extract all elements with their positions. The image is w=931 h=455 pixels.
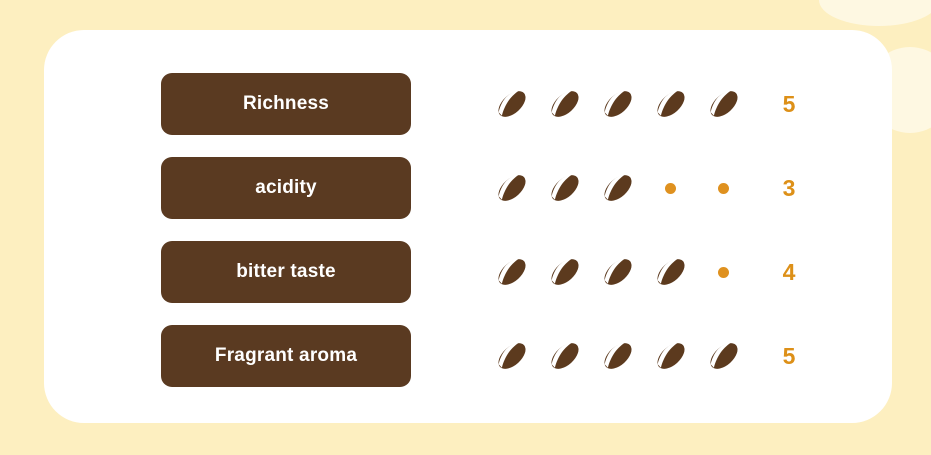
coffee-bean-icon xyxy=(707,339,741,373)
rating-row: acidity3 xyxy=(161,157,861,219)
coffee-bean-icon xyxy=(548,255,582,289)
coffee-bean-icon xyxy=(495,87,529,121)
rating-score: 3 xyxy=(778,175,800,202)
coffee-bean-icon[interactable] xyxy=(538,336,591,376)
coffee-bean-icon xyxy=(495,339,529,373)
coffee-bean-icon[interactable] xyxy=(538,252,591,292)
rating-label-bitter-taste[interactable]: bitter taste xyxy=(161,241,411,303)
coffee-bean-icon[interactable] xyxy=(485,336,538,376)
rating-score: 5 xyxy=(778,91,800,118)
bean-rating-track xyxy=(485,252,750,292)
empty-dot-icon xyxy=(718,267,729,278)
empty-dot-icon[interactable] xyxy=(697,252,750,292)
coffee-bean-icon[interactable] xyxy=(485,168,538,208)
bean-rating-track xyxy=(485,168,750,208)
rating-list: Richness5acidity3bitter taste4Fragrant a… xyxy=(161,73,861,387)
rating-label-fragrant-aroma[interactable]: Fragrant aroma xyxy=(161,325,411,387)
coffee-bean-icon[interactable] xyxy=(485,84,538,124)
empty-dot-icon xyxy=(718,183,729,194)
coffee-bean-icon[interactable] xyxy=(591,84,644,124)
rating-card: Richness5acidity3bitter taste4Fragrant a… xyxy=(44,30,892,423)
rating-label-acidity[interactable]: acidity xyxy=(161,157,411,219)
coffee-bean-icon[interactable] xyxy=(644,336,697,376)
rating-row: bitter taste4 xyxy=(161,241,861,303)
rating-label-richness[interactable]: Richness xyxy=(161,73,411,135)
coffee-bean-icon xyxy=(707,87,741,121)
coffee-bean-icon xyxy=(548,171,582,205)
coffee-bean-icon xyxy=(495,255,529,289)
coffee-bean-icon[interactable] xyxy=(591,168,644,208)
coffee-bean-icon xyxy=(601,87,635,121)
coffee-bean-icon[interactable] xyxy=(538,84,591,124)
coffee-bean-icon xyxy=(495,171,529,205)
coffee-bean-icon[interactable] xyxy=(591,252,644,292)
coffee-bean-icon xyxy=(601,339,635,373)
coffee-bean-icon xyxy=(548,339,582,373)
coffee-bean-icon xyxy=(601,171,635,205)
coffee-bean-icon[interactable] xyxy=(644,84,697,124)
bean-rating-track xyxy=(485,84,750,124)
decor-ellipse-top-right xyxy=(819,0,931,26)
coffee-bean-icon[interactable] xyxy=(697,84,750,124)
rating-score: 5 xyxy=(778,343,800,370)
coffee-bean-icon xyxy=(548,87,582,121)
empty-dot-icon[interactable] xyxy=(644,168,697,208)
coffee-bean-icon xyxy=(654,339,688,373)
empty-dot-icon xyxy=(665,183,676,194)
coffee-bean-icon xyxy=(654,87,688,121)
rating-score: 4 xyxy=(778,259,800,286)
coffee-bean-icon[interactable] xyxy=(644,252,697,292)
coffee-bean-icon[interactable] xyxy=(485,252,538,292)
coffee-bean-icon[interactable] xyxy=(697,336,750,376)
coffee-bean-icon xyxy=(654,255,688,289)
coffee-bean-icon[interactable] xyxy=(591,336,644,376)
bean-rating-track xyxy=(485,336,750,376)
rating-row: Richness5 xyxy=(161,73,861,135)
coffee-bean-icon xyxy=(601,255,635,289)
empty-dot-icon[interactable] xyxy=(697,168,750,208)
coffee-bean-icon[interactable] xyxy=(538,168,591,208)
rating-row: Fragrant aroma5 xyxy=(161,325,861,387)
